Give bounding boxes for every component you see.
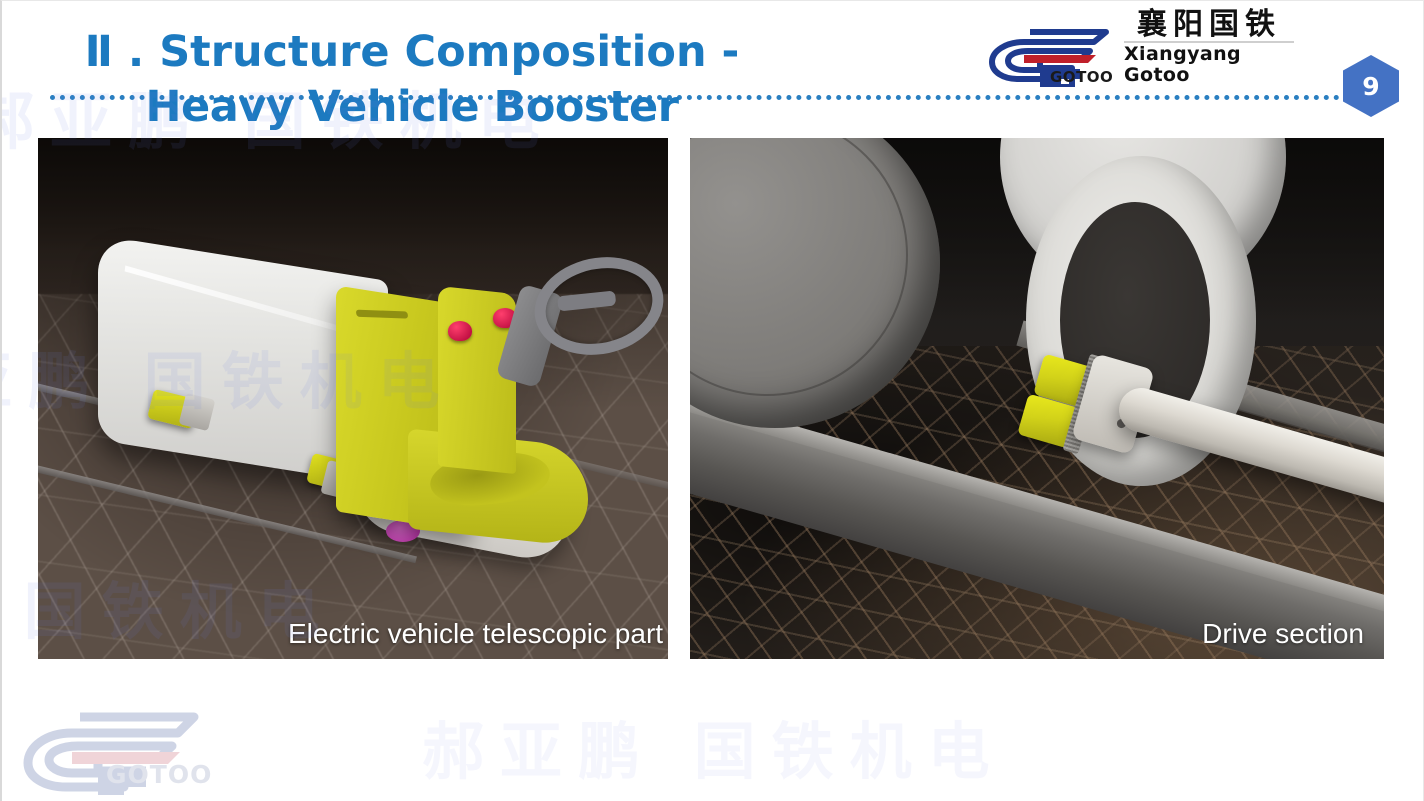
image-drive-section: Drive section bbox=[690, 138, 1384, 659]
page-number-badge: 9 bbox=[1343, 55, 1399, 117]
page-title-line-2: Heavy Vehicle Booster bbox=[62, 80, 762, 135]
image-caption-right: Drive section bbox=[1202, 618, 1364, 650]
brand-pinyin-name: Xiangyang Gotoo bbox=[1124, 44, 1294, 86]
brand-name-block: 襄阳国铁 Xiangyang Gotoo bbox=[1124, 9, 1294, 87]
brand-chinese-name: 襄阳国铁 bbox=[1137, 9, 1281, 41]
control-button-red bbox=[448, 321, 472, 341]
slide-canvas: Ⅱ . Structure Composition - Heavy Vehicl… bbox=[0, 0, 1424, 801]
page-title-line-1: Ⅱ . Structure Composition - bbox=[62, 25, 762, 80]
footer-gotoo-wordmark: GOTOO bbox=[106, 760, 212, 789]
hexagon-shape-icon: 9 bbox=[1343, 55, 1399, 117]
page-title: Ⅱ . Structure Composition - Heavy Vehicl… bbox=[62, 25, 762, 135]
gotoo-wordmark: GOTOO bbox=[1050, 68, 1113, 86]
watermark-text: 郝亚鹏 国铁机电 bbox=[422, 701, 1006, 791]
page-number: 9 bbox=[1362, 72, 1379, 101]
gotoo-mark-icon: GOTOO bbox=[984, 29, 1116, 87]
company-logo: GOTOO 襄阳国铁 Xiangyang Gotoo bbox=[984, 25, 1294, 87]
image-caption-left: Electric vehicle telescopic part bbox=[288, 618, 663, 650]
footer-gotoo-logo: GOTOO bbox=[14, 709, 224, 795]
image-electric-vehicle-telescopic-part: Electric vehicle telescopic part bbox=[38, 138, 668, 659]
